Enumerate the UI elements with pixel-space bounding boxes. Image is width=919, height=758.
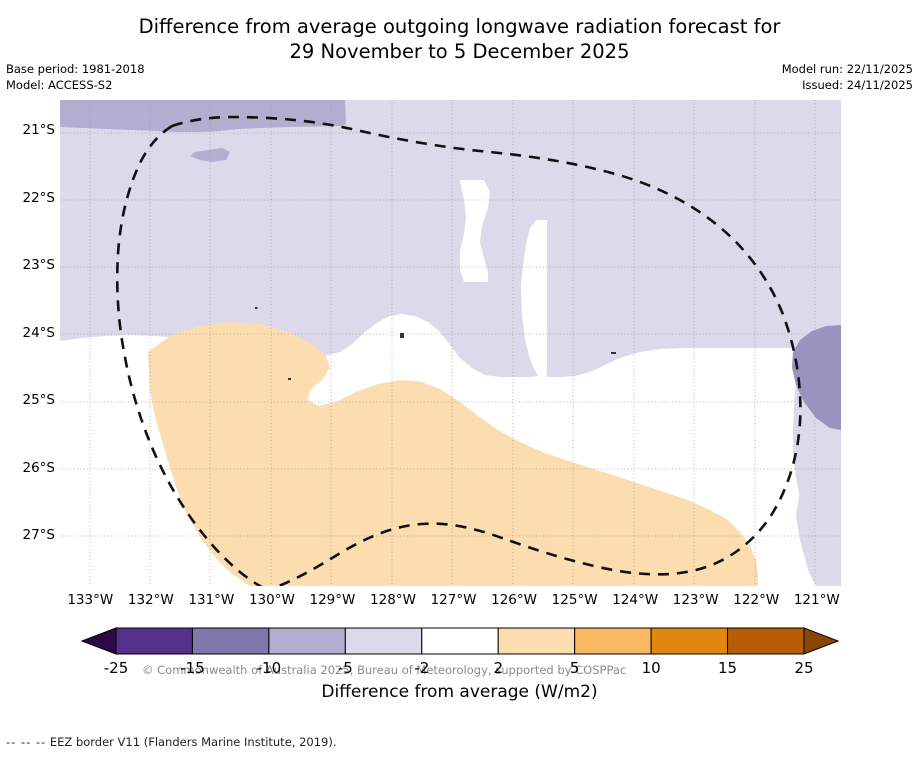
anomaly-map — [60, 100, 841, 586]
eez-footnote: -- -- -- EEZ border V11 (Flanders Marine… — [6, 735, 337, 749]
x-tick-label: 127°W — [419, 592, 489, 608]
x-tick-label: 133°W — [55, 592, 125, 608]
colorbar-cell — [268, 628, 344, 654]
colorbar-tick-labels: -25-15-10-5-225101525 — [103, 659, 813, 677]
dash-legend-glyph: -- -- -- — [6, 735, 46, 749]
y-tick-label: 27°S — [3, 527, 55, 543]
colorbar-tick-label: -15 — [180, 659, 205, 677]
x-tick-label: 121°W — [782, 592, 852, 608]
colorbar-tick-label: -2 — [414, 659, 429, 677]
colorbar-tick-label: 5 — [569, 659, 579, 677]
colorbar-over-arrow — [804, 628, 838, 654]
colorbar-cells — [82, 628, 838, 654]
x-tick-label: 131°W — [176, 592, 246, 608]
map-plot-area: © Commonwealth of Australia 2025, Bureau… — [60, 100, 841, 586]
colorbar-cell — [727, 628, 803, 654]
colorbar-tick-label: -10 — [256, 659, 281, 677]
y-tick-label: 22°S — [3, 190, 55, 206]
colorbar-tick-label: -5 — [337, 659, 352, 677]
x-axis-labels: 133°W132°W131°W130°W129°W128°W127°W126°W… — [60, 592, 841, 614]
title-line-2: 29 November to 5 December 2025 — [0, 39, 919, 64]
y-tick-label: 25°S — [3, 392, 55, 408]
colorbar-tick-label: -25 — [103, 659, 128, 677]
issued-text: Issued: 24/11/2025 — [782, 78, 913, 94]
colorbar-cell — [574, 628, 650, 654]
x-tick-label: 132°W — [116, 592, 186, 608]
colorbar-tick-label: 25 — [794, 659, 813, 677]
x-tick-label: 129°W — [297, 592, 367, 608]
page-title: Difference from average outgoing longwav… — [0, 14, 919, 64]
y-tick-label: 21°S — [3, 122, 55, 138]
model-run-text: Model run: 22/11/2025 — [782, 62, 913, 78]
x-tick-label: 125°W — [540, 592, 610, 608]
colorbar-cell — [651, 628, 727, 654]
metadata-left: Base period: 1981-2018 Model: ACCESS-S2 — [6, 62, 145, 93]
colorbar-under-arrow — [82, 628, 116, 654]
y-tick-label: 23°S — [3, 257, 55, 273]
base-period-text: Base period: 1981-2018 — [6, 62, 145, 78]
colorbar-title: Difference from average (W/m2) — [0, 682, 919, 702]
colorbar-cell — [116, 628, 192, 654]
colorbar-cell — [192, 628, 268, 654]
x-tick-label: 130°W — [237, 592, 307, 608]
colorbar: -25-15-10-5-225101525 Difference from av… — [0, 624, 919, 708]
title-line-1: Difference from average outgoing longwav… — [0, 14, 919, 39]
colorbar-cell — [421, 628, 497, 654]
x-tick-label: 123°W — [661, 592, 731, 608]
y-axis-labels: 21°S22°S23°S24°S25°S26°S27°S — [0, 100, 55, 586]
eez-footnote-text: EEZ border V11 (Flanders Marine Institut… — [50, 735, 337, 749]
x-tick-label: 128°W — [358, 592, 428, 608]
model-text: Model: ACCESS-S2 — [6, 78, 145, 94]
y-tick-label: 26°S — [3, 460, 55, 476]
colorbar-tick-label: 10 — [641, 659, 660, 677]
colorbar-tick-label: 2 — [493, 659, 503, 677]
y-tick-label: 24°S — [3, 325, 55, 341]
colorbar-cell — [345, 628, 421, 654]
colorbar-swatches: -25-15-10-5-225101525 — [80, 624, 840, 680]
x-tick-label: 126°W — [479, 592, 549, 608]
x-tick-label: 122°W — [721, 592, 791, 608]
colorbar-tick-label: 15 — [718, 659, 737, 677]
x-tick-label: 124°W — [600, 592, 670, 608]
metadata-right: Model run: 22/11/2025 Issued: 24/11/2025 — [782, 62, 913, 93]
colorbar-cell — [498, 628, 574, 654]
